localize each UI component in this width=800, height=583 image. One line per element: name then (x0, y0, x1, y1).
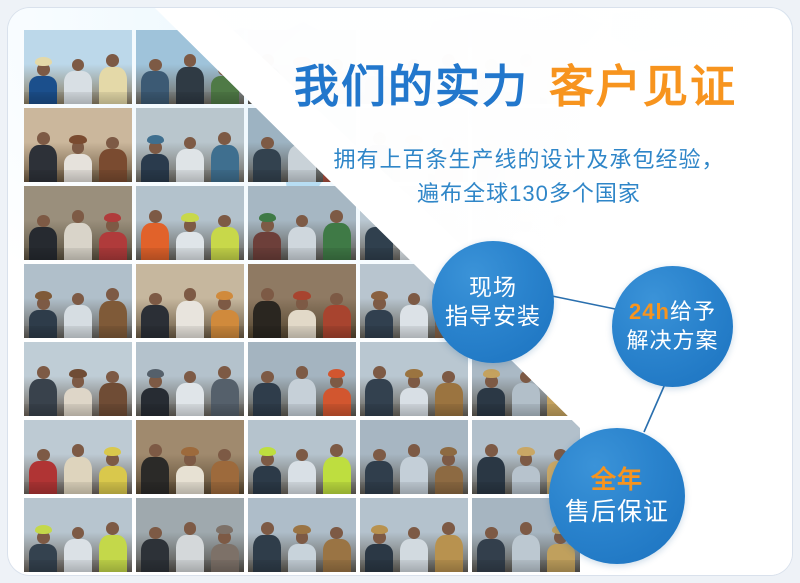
circle3-line-2: 售后保证 (565, 496, 669, 528)
circle1-line-2: 指导安装 (445, 302, 541, 331)
tile-guests-outdoor (24, 342, 132, 416)
tile-group-portrait (136, 108, 244, 182)
tile-business-women (136, 342, 244, 416)
page-title: 我们的实力客户见证 (294, 64, 764, 109)
subtitle-line-2: 遍布全球130多个国家 (294, 177, 764, 211)
circle2-line-2: 解决方案 (626, 327, 718, 355)
banner-card: 我们的实力客户见证 拥有上百条生产线的设计及承包经验， 遍布全球130多个国家 … (8, 8, 792, 575)
subtitle: 拥有上百条生产线的设计及承包经验， 遍布全球130多个国家 (294, 143, 764, 211)
tile-factory-talk (248, 342, 356, 416)
headline-blue: 我们的实力 (294, 61, 529, 112)
tile-award-handover (136, 186, 244, 260)
tile-site-meeting (24, 498, 132, 572)
circle-24h-solution[interactable]: 24h给予 解决方案 (612, 266, 733, 387)
tile-hardhat-group (24, 420, 132, 494)
tile-helmet-workers (24, 30, 132, 104)
tile-vip-vests (248, 420, 356, 494)
tile-machinery (360, 498, 468, 572)
headline-orange: 客户见证 (549, 61, 737, 112)
circle1-line-1: 现场 (469, 273, 517, 302)
tile-team-photo (24, 264, 132, 338)
tile-handshake-office (24, 108, 132, 182)
tile-office-handshake (136, 420, 244, 494)
tile-meeting-room (24, 186, 132, 260)
circle2-highlight: 24h (629, 299, 670, 324)
tile-banquet (248, 264, 356, 338)
circle2-line-1: 24h给予 (629, 298, 716, 326)
tile-equipment-check (360, 342, 468, 416)
subtitle-line-1: 拥有上百条生产线的设计及承包经验， (294, 143, 764, 177)
circle-year-round-after-sales[interactable]: 全年 售后保证 (549, 428, 685, 564)
tile-signing-contract (136, 264, 244, 338)
tile-steel-plant (136, 498, 244, 572)
tile-installation (248, 498, 356, 572)
tile-plant-tour (360, 420, 468, 494)
circle-on-site-installation[interactable]: 现场 指导安装 (432, 241, 554, 363)
circle2-line-1-rest: 给予 (670, 299, 716, 324)
circle3-highlight: 全年 (591, 464, 643, 496)
promo-banner: 我们的实力客户见证 拥有上百条生产线的设计及承包经验， 遍布全球130多个国家 … (0, 0, 800, 583)
tile-site-crew (136, 30, 244, 104)
